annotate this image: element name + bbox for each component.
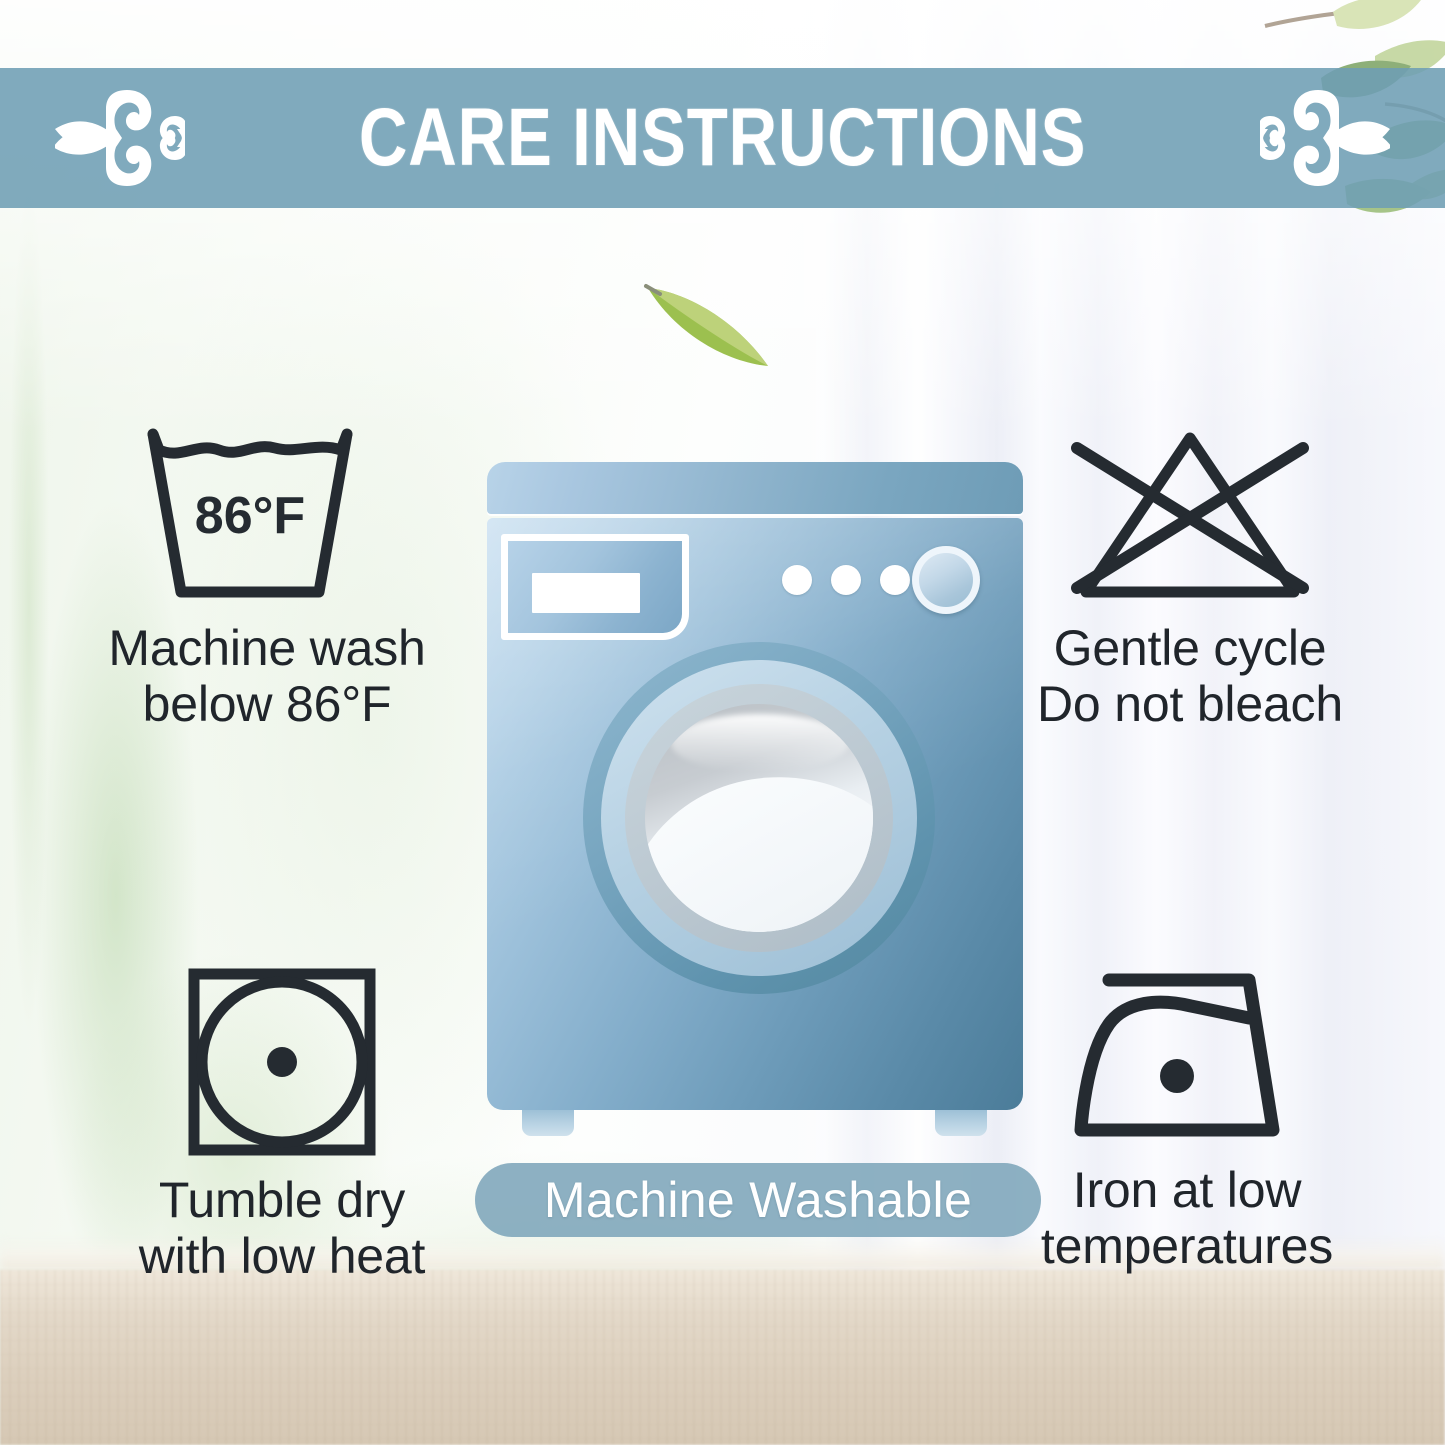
page-title: CARE INSTRUCTIONS [359, 97, 1086, 179]
care-symbol-iron: Iron at low temperatures [977, 962, 1397, 1274]
care-symbol-machine-wash: 86°F Machine wash below 86°F [52, 420, 482, 732]
door-glass [645, 704, 873, 932]
washing-machine-door [583, 642, 935, 994]
care-symbol-label-no-bleach: Gentle cycle Do not bleach [1037, 620, 1343, 732]
care-symbol-tumble-dry: Tumble dry with low heat [72, 962, 492, 1284]
door-ring-inner [625, 684, 893, 952]
program-knob [912, 546, 980, 614]
wash-temperature-text: 86°F [195, 487, 305, 545]
washing-machine-illustration [487, 462, 1023, 1122]
fleur-de-lis-icon-right [1260, 86, 1390, 190]
care-symbol-label-machine-wash: Machine wash below 86°F [108, 620, 425, 732]
door-ring-outer [601, 660, 917, 976]
washing-machine-lid [487, 462, 1023, 514]
indicator-dot [880, 565, 910, 595]
indicator-dot [831, 565, 861, 595]
care-instructions-infographic: CARE INSTRUCTIONS 86°F Machine wash belo… [0, 0, 1445, 1445]
fleur-de-lis-icon-left [55, 86, 185, 190]
door-glass-swirl [645, 756, 873, 932]
detergent-drawer [501, 534, 689, 640]
iron-icon [1061, 962, 1313, 1152]
care-symbol-label-tumble-dry: Tumble dry with low heat [139, 1172, 425, 1284]
care-symbol-label-iron: Iron at low temperatures [1041, 1162, 1333, 1274]
no-bleach-triangle-icon [1059, 420, 1321, 610]
tumble-dry-icon [182, 962, 382, 1162]
wash-tub-icon: 86°F [141, 420, 393, 610]
machine-washable-badge: Machine Washable [475, 1163, 1041, 1237]
detergent-drawer-slot [532, 573, 640, 613]
washing-machine-foot-left [522, 1110, 574, 1136]
floating-leaf-icon [640, 272, 780, 377]
washing-machine-foot-right [935, 1110, 987, 1136]
door-glass-highlight [671, 714, 849, 772]
care-symbol-no-bleach: Gentle cycle Do not bleach [975, 420, 1405, 732]
indicator-lights [782, 565, 910, 595]
wooden-surface [0, 1270, 1445, 1445]
program-knob-face [919, 553, 973, 607]
machine-washable-badge-label: Machine Washable [544, 1175, 972, 1225]
indicator-dot [782, 565, 812, 595]
header-banner: CARE INSTRUCTIONS [0, 68, 1445, 208]
